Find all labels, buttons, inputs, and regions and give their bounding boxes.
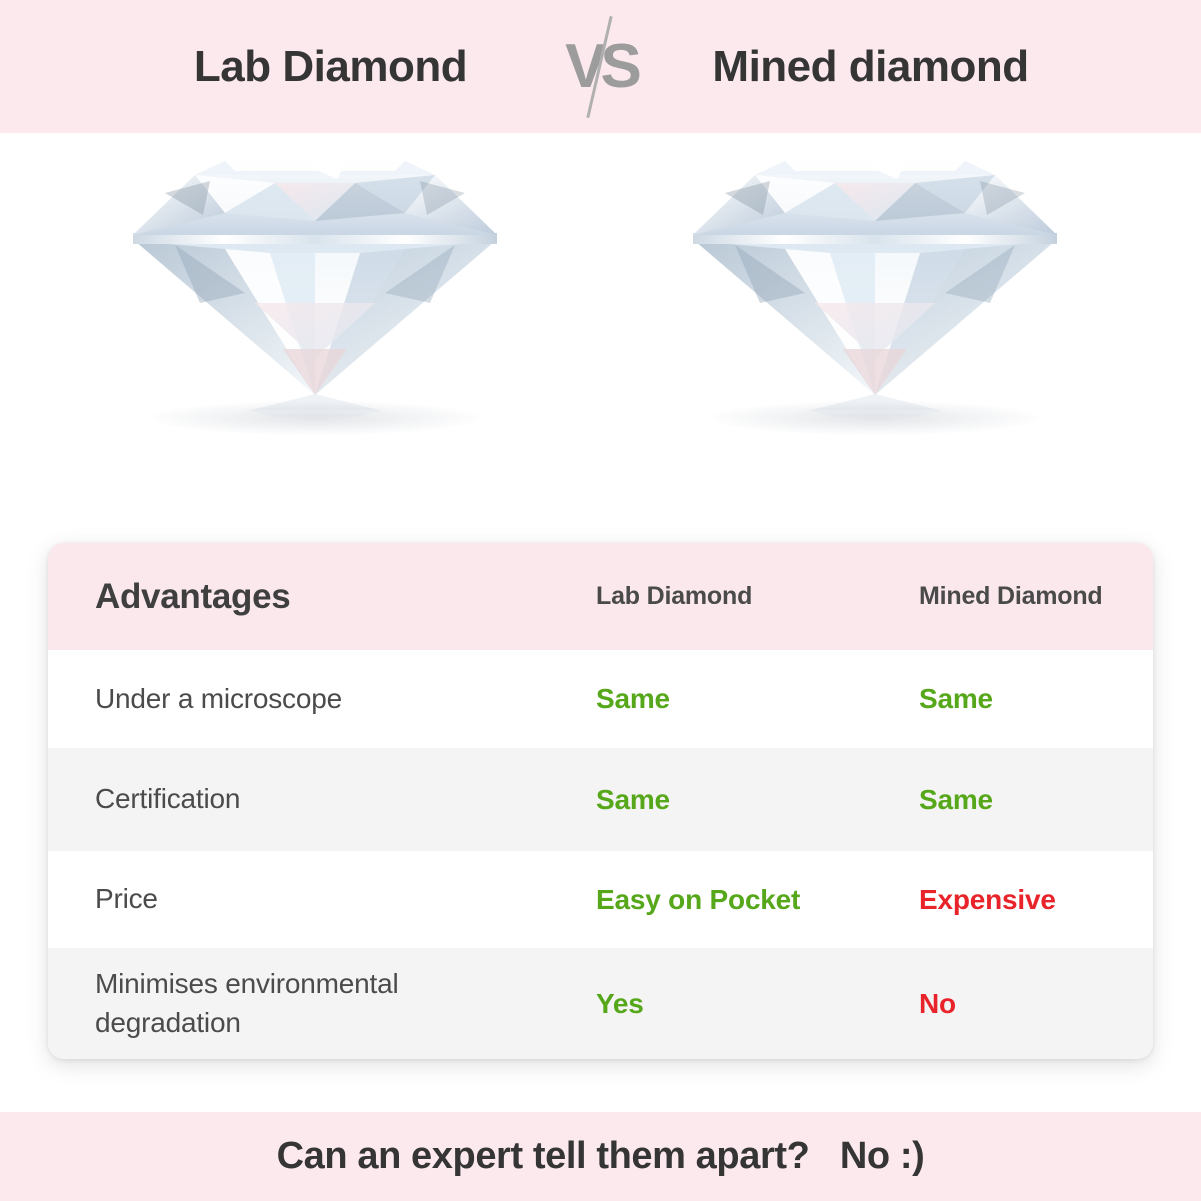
lab-diamond-image [105, 153, 525, 453]
row-mined-cell: Expensive [872, 884, 1153, 916]
header-cell-advantages: Advantages [48, 577, 541, 617]
table-row: Certification Same Same [48, 748, 1153, 851]
row-feature-cell: Price [48, 880, 541, 919]
footer-question: Can an expert tell them apart? No :) [277, 1135, 925, 1178]
table-row: Minimises environmental degradation Yes … [48, 948, 1153, 1059]
header-cell-lab-diamond: Lab Diamond [541, 582, 872, 611]
diamond-icon [105, 153, 525, 403]
lab-diamond-title: Lab Diamond [121, 42, 541, 92]
comparison-table: Advantages Lab Diamond Mined Diamond Und… [48, 543, 1153, 1059]
row-mined-cell: Same [872, 683, 1153, 715]
row-mined-cell: No [872, 988, 1153, 1020]
table-row: Under a microscope Same Same [48, 650, 1153, 748]
row-lab-cell: Same [541, 683, 872, 715]
header-cell-mined-diamond: Mined Diamond [872, 582, 1153, 611]
footer-banner: Can an expert tell them apart? No :) [0, 1112, 1201, 1201]
table-header-row: Advantages Lab Diamond Mined Diamond [48, 543, 1153, 650]
diamond-images-area [0, 133, 1201, 533]
row-feature-cell: Under a microscope [48, 680, 541, 719]
row-lab-cell: Easy on Pocket [541, 884, 872, 916]
diamond-reflection [800, 393, 950, 418]
row-feature-cell: Certification [48, 780, 541, 819]
row-lab-cell: Same [541, 784, 872, 816]
top-banner: Lab Diamond VS Mined diamond [0, 0, 1201, 133]
row-lab-cell: Yes [541, 988, 872, 1020]
table-row: Price Easy on Pocket Expensive [48, 851, 1153, 948]
row-mined-cell: Same [872, 784, 1153, 816]
mined-diamond-title: Mined diamond [661, 42, 1081, 92]
vs-badge: VS [541, 7, 661, 127]
diamond-reflection [240, 393, 390, 418]
row-feature-cell: Minimises environmental degradation [48, 965, 541, 1042]
mined-diamond-image [665, 153, 1085, 453]
diamond-icon [665, 153, 1085, 403]
